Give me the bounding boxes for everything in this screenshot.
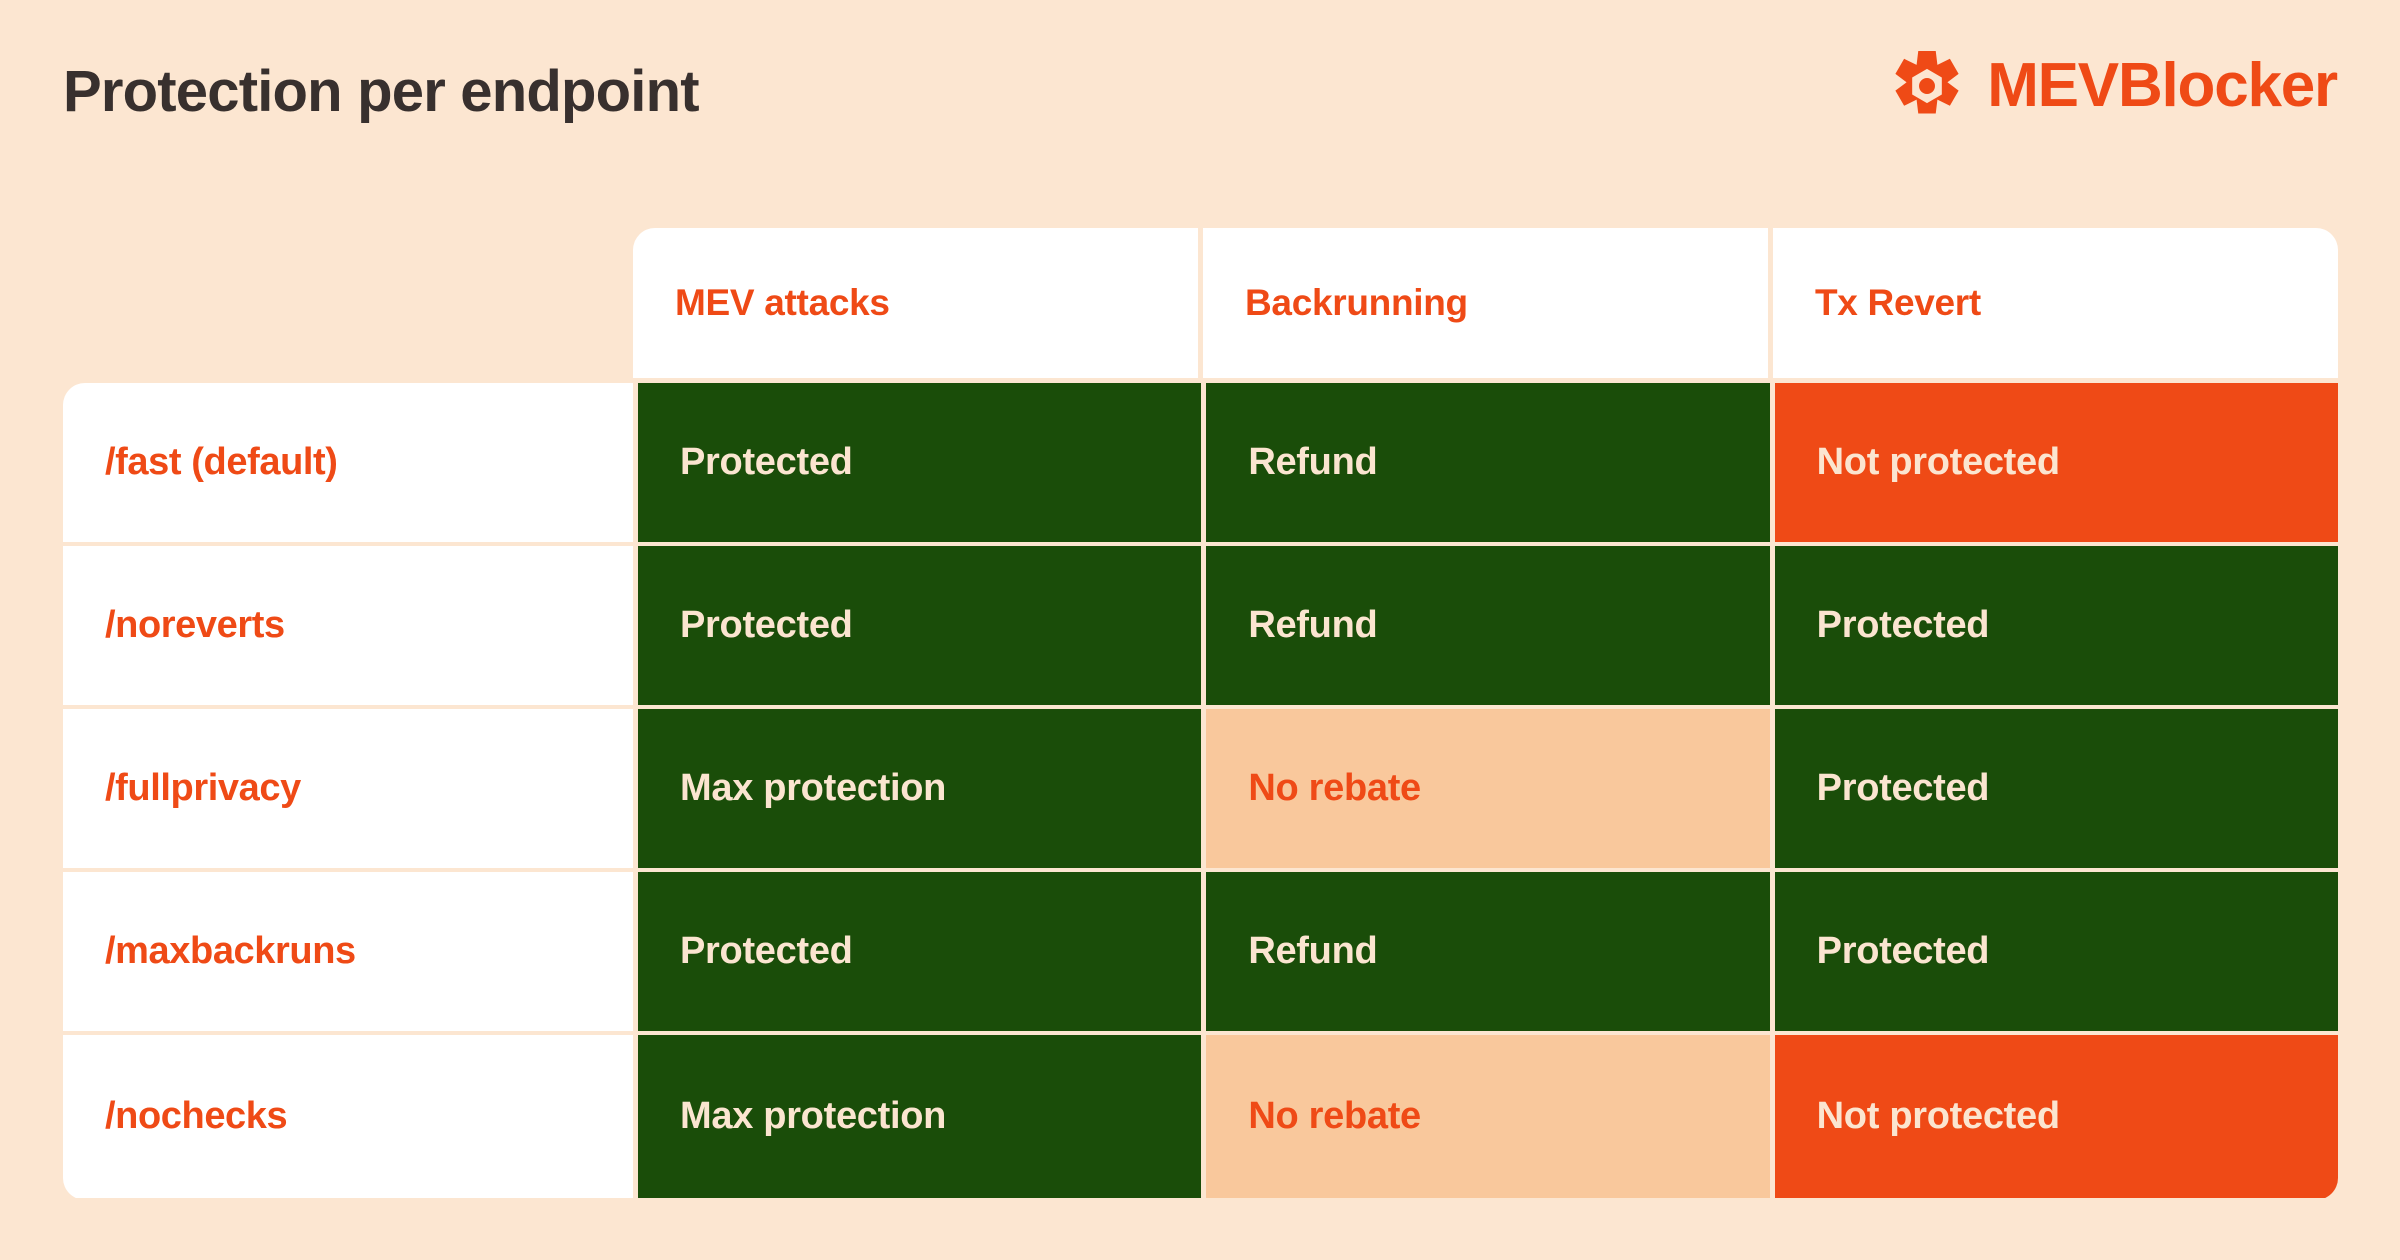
table-row: /noreverts Protected Refund Protected [63,546,2338,709]
column-header-backrunning: Backrunning [1203,228,1768,378]
mev-gear-icon [1889,48,1965,124]
status-cell: Not protected [1770,1035,2338,1198]
page-header: Protection per endpoint MEVBlocker [0,0,2400,215]
column-header-mev-attacks: MEV attacks [633,228,1198,378]
status-cell: Protected [1770,872,2338,1035]
status-cell: Protected [633,546,1201,709]
status-cell: Not protected [1770,383,2338,546]
table-row: /nochecks Max protection No rebate Not p… [63,1035,2338,1198]
status-cell: Refund [1201,546,1769,709]
table-body: /fast (default) Protected Refund Not pro… [63,383,2338,1200]
endpoint-label-noreverts: /noreverts [63,546,633,709]
status-cell: Protected [633,383,1201,546]
page-title: Protection per endpoint [63,58,699,125]
status-cell: Max protection [633,1035,1201,1198]
table-row: /fullprivacy Max protection No rebate Pr… [63,709,2338,872]
column-header-tx-revert: Tx Revert [1773,228,2338,378]
status-cell: Protected [1770,709,2338,872]
table-header-row: MEV attacks Backrunning Tx Revert [633,228,2338,378]
status-cell: Refund [1201,383,1769,546]
protection-matrix-table: MEV attacks Backrunning Tx Revert /fast … [63,228,2338,1200]
status-cell: Refund [1201,872,1769,1035]
endpoint-label-maxbackruns: /maxbackruns [63,872,633,1035]
brand-name: MEVBlocker [1987,55,2337,117]
table-row: /fast (default) Protected Refund Not pro… [63,383,2338,546]
status-cell: Protected [1770,546,2338,709]
table-row: /maxbackruns Protected Refund Protected [63,872,2338,1035]
status-cell: Max protection [633,709,1201,872]
status-cell: No rebate [1201,1035,1769,1198]
status-cell: Protected [633,872,1201,1035]
endpoint-label-fullprivacy: /fullprivacy [63,709,633,872]
endpoint-label-fast: /fast (default) [63,383,633,546]
endpoint-label-nochecks: /nochecks [63,1035,633,1198]
brand-logo: MEVBlocker [1889,48,2337,124]
status-cell: No rebate [1201,709,1769,872]
